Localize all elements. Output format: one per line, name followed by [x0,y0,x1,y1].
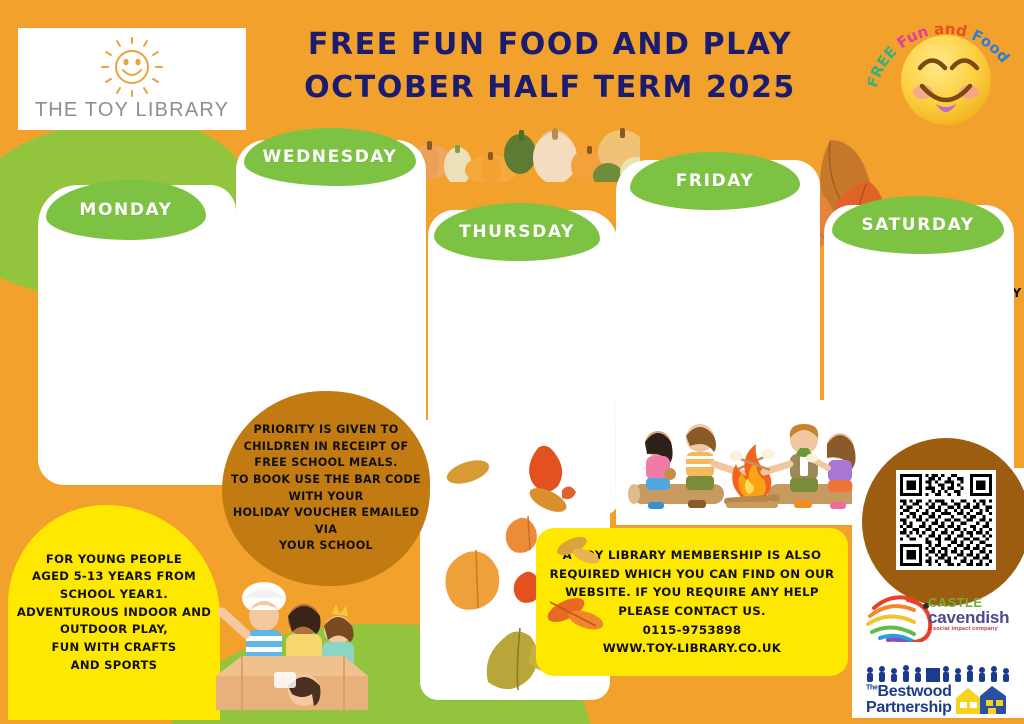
booking-qr-code[interactable] [896,470,996,570]
membership-note: A Toy Library membership is also require… [536,528,848,676]
free-fun-and-food-badge: FREE Fun and Food [868,6,1018,134]
priority-line: free school meals. [231,455,421,472]
age-note-line: and sports [17,657,211,675]
children-cardboard-box-illustration [212,568,372,713]
poster-canvas: THE TOY LIBRARY Free Fun Food and Play O… [0,0,1024,724]
day-chip-wednesday: Wednesday [244,128,416,186]
address-line: Nott'm [824,319,1024,339]
sun-smiley-icon [96,37,168,97]
address-line: Barkers Wood [824,278,1024,298]
castle-cavendish-logo: CASTLE cavendish a social impact company [928,596,1020,632]
age-note-line: Adventurous indoor and [17,604,211,622]
bestwood-partnership-logo: TheBestwood Partnership [862,664,1016,714]
priority-line: To book use the bar code [231,472,421,489]
priority-line: children in receipt of [231,439,421,456]
venue-name: Bulwell Play [824,258,1024,278]
priority-note: Priority is given to children in receipt… [222,391,430,586]
houses-icon [954,684,1008,716]
headline-line-2: October Half Term 2025 [300,67,800,110]
age-note-line: Fun with crafts [17,639,211,657]
bestwood-line-1: TheBestwood [866,684,952,700]
membership-line: please contact us. [550,602,835,621]
campfire-panel [616,400,868,525]
age-note-line: school year1. [17,586,211,604]
day-chip-friday: Friday [630,152,800,210]
membership-line: A Toy Library membership is also [550,546,835,565]
age-note: For young people aged 5-13 years from sc… [8,505,220,720]
age-note-line: aged 5-13 years from [17,568,211,586]
age-note-line: outdoor play, [17,621,211,639]
address-line: Bulwell Hall Park [824,299,1024,319]
age-note-line: For young people [17,551,211,569]
priority-line: holiday voucher emailed [231,505,421,522]
pumpkin-row-illustration [400,110,640,182]
people-houses-icon [862,664,1016,682]
toy-library-logo: THE TOY LIBRARY [18,28,246,130]
contact-phone: 0115-9753898 [550,621,835,640]
membership-line: required which you can find on our [550,565,835,584]
castle-line-2: cavendish [928,609,1020,626]
membership-line: website. If you require any help [550,583,835,602]
day-details-saturday: Bulwell Play Barkers Wood Bulwell Hall P… [824,258,1024,416]
priority-line: via [231,522,421,539]
priority-line: with your [231,489,421,506]
bestwood-line-2: Partnership [866,700,952,716]
event-date: 25TH October [824,375,1024,395]
logo-wordmark: THE TOY LIBRARY [35,99,229,122]
contact-website[interactable]: www.toy-library.co.uk [550,639,835,658]
page-title: Free Fun Food and Play October Half Term… [300,24,800,109]
priority-line: Priority is given to [231,422,421,439]
priority-line: your school [231,538,421,555]
headline-line-1: Free Fun Food and Play [300,24,800,67]
address-line: NG6 8GG [824,339,1024,359]
